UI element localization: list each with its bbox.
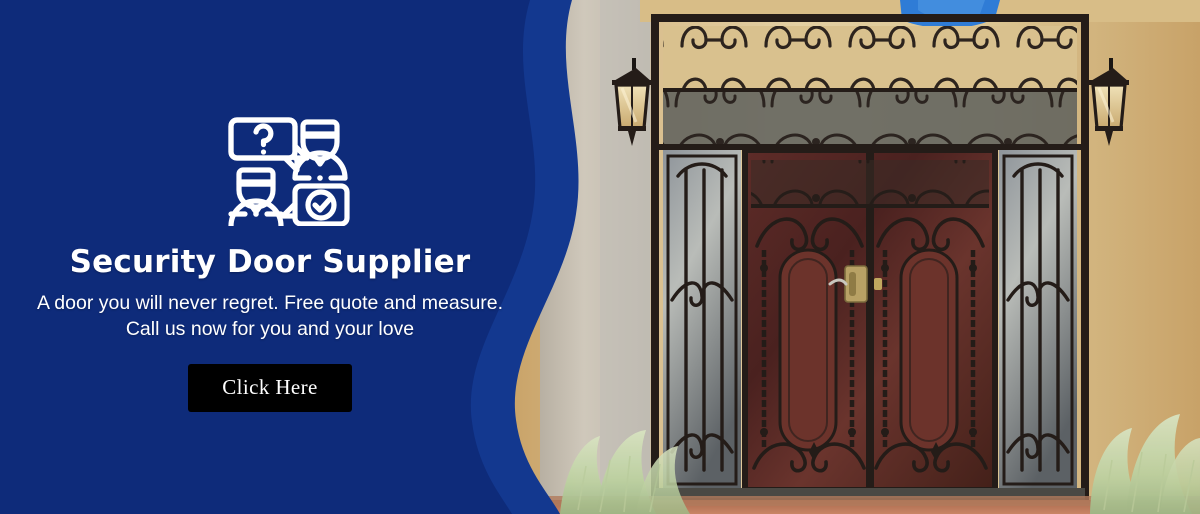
subcopy-line-1: A door you will never regret. Free quote… <box>37 290 503 316</box>
subcopy-line-2: Call us now for you and your love <box>37 316 503 342</box>
banner-subcopy: A door you will never regret. Free quote… <box>37 290 503 343</box>
click-here-button[interactable]: Click Here <box>188 364 352 412</box>
consultation-people-chat-icon <box>227 102 351 226</box>
banner-copy-block: Security Door Supplier A door you will n… <box>0 0 540 514</box>
hero-banner: Security Door Supplier A door you will n… <box>0 0 1200 514</box>
page-title: Security Door Supplier <box>70 244 471 280</box>
